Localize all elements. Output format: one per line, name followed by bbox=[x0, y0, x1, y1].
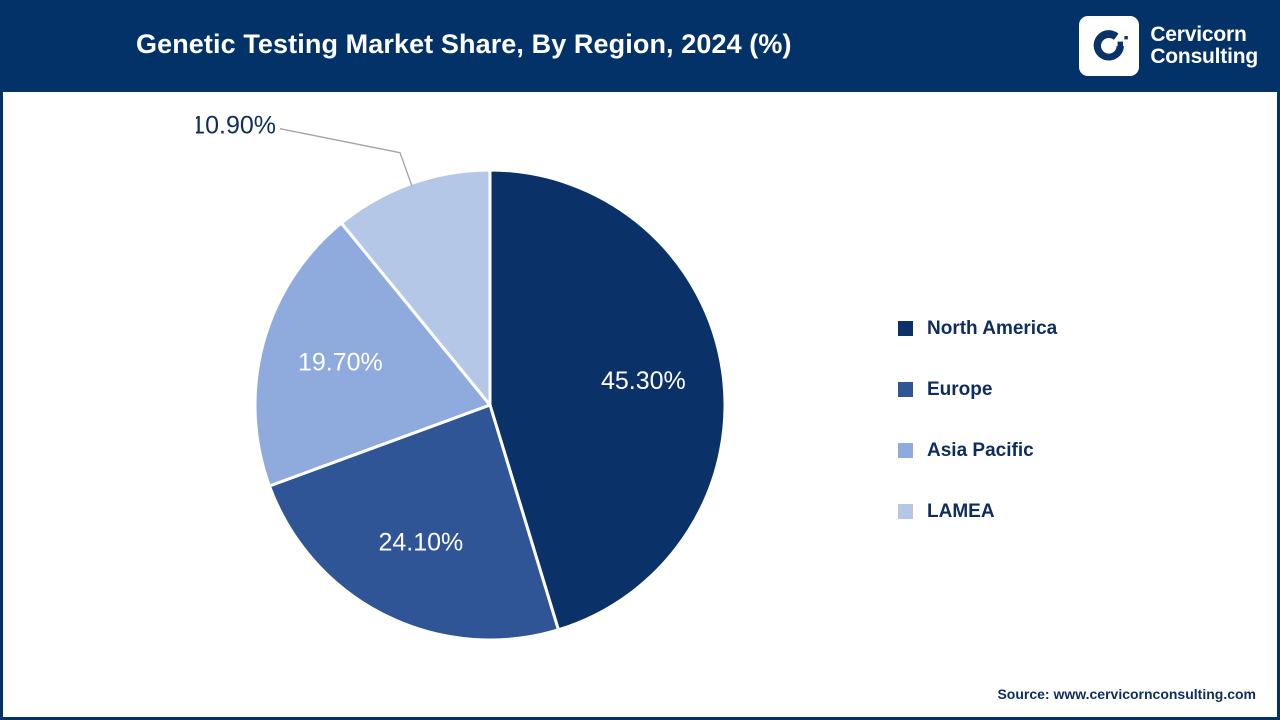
legend-item-label: Europe bbox=[927, 379, 992, 401]
pie-chart: 45.30%24.10%19.70%10.90% bbox=[196, 100, 896, 700]
logo-line-1: Cervicorn bbox=[1150, 24, 1258, 46]
legend-item[interactable]: North America bbox=[898, 298, 1198, 359]
legend-item[interactable]: Asia Pacific bbox=[898, 420, 1198, 481]
pie-slice-group bbox=[255, 170, 725, 640]
legend-item-label: LAMEA bbox=[927, 501, 995, 523]
legend-item[interactable]: Europe bbox=[898, 359, 1198, 420]
logo-tile bbox=[1079, 16, 1139, 76]
legend-item-label: North America bbox=[927, 318, 1057, 340]
legend-item-label: Asia Pacific bbox=[927, 440, 1034, 462]
brand-logo: Cervicorn Consulting bbox=[1079, 14, 1258, 78]
logo-line-2: Consulting bbox=[1150, 46, 1258, 68]
pie-slice-label: 19.70% bbox=[298, 349, 383, 377]
legend-swatch-icon bbox=[898, 443, 913, 458]
page-title: Genetic Testing Market Share, By Region,… bbox=[136, 29, 792, 60]
pie-leader-line bbox=[280, 129, 412, 186]
legend-item[interactable]: LAMEA bbox=[898, 481, 1198, 542]
source-note: Source: www.cervicornconsulting.com bbox=[997, 686, 1256, 702]
pie-slice-label: 24.10% bbox=[379, 529, 464, 557]
chart-page: Genetic Testing Market Share, By Region,… bbox=[0, 0, 1280, 720]
logo-wordmark: Cervicorn Consulting bbox=[1150, 24, 1258, 69]
pie-slice-label: 10.90% bbox=[196, 111, 276, 139]
chart-legend: North AmericaEuropeAsia PacificLAMEA bbox=[898, 298, 1198, 542]
cervicorn-c-mark-icon bbox=[1087, 24, 1131, 68]
legend-swatch-icon bbox=[898, 382, 913, 397]
legend-swatch-icon bbox=[898, 504, 913, 519]
pie-slice-label: 45.30% bbox=[601, 367, 686, 395]
pie-leader-line-group bbox=[280, 129, 412, 186]
legend-swatch-icon bbox=[898, 321, 913, 336]
